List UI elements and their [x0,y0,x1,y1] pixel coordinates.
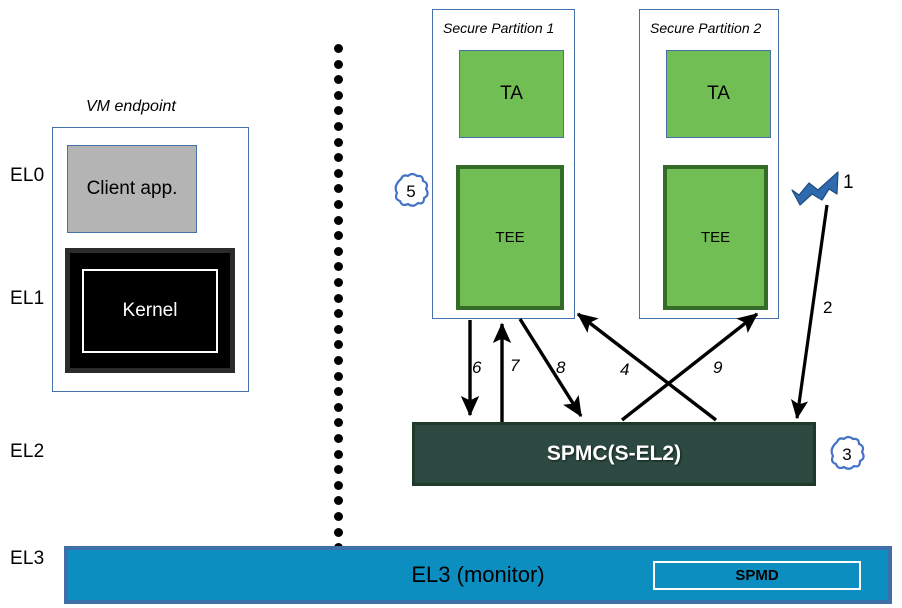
secure-partition-1-title: Secure Partition 1 [443,20,554,36]
divider-dot [334,60,343,69]
divider-dot [334,75,343,84]
callout-5-number: 5 [406,182,415,202]
arrow-label-8: 8 [556,358,565,378]
secure-partition-1-ta: TA [459,50,564,138]
divider-dot [334,418,343,427]
divider-dot [334,528,343,537]
divider-dot [334,450,343,459]
callout-3: 3 [825,433,869,477]
divider-dot [334,91,343,100]
divider-dot [334,169,343,178]
el-label-el1: EL1 [10,288,44,310]
kernel-box: Kernel [82,269,218,353]
arrow-8-line [520,319,581,416]
arrow-9-line [622,314,757,420]
secure-nonsecure-divider [334,44,344,544]
kernel-outer-frame: Kernel [65,248,235,373]
client-app-box: Client app. [67,145,197,233]
secure-partition-1-tee: TEE [456,165,564,310]
spmd-box: SPMD [653,561,861,590]
arrow-label-4: 4 [620,360,629,380]
kernel-inner-frame: Kernel [70,253,230,368]
secure-partition-2-ta: TA [666,50,771,138]
diagram-canvas: EL0 EL1 EL2 EL3 VM endpoint Client app. … [0,0,902,608]
divider-dot [334,231,343,240]
divider-dot [334,496,343,505]
secure-partition-2-tee: TEE [663,165,768,310]
divider-dot [334,122,343,131]
divider-dot [334,309,343,318]
divider-dot [334,340,343,349]
divider-dot [334,372,343,381]
divider-dot [334,512,343,521]
callout-5: 5 [389,170,433,214]
divider-dot [334,294,343,303]
divider-dot [334,184,343,193]
divider-dot [334,200,343,209]
secure-partition-2-title: Secure Partition 2 [650,20,761,36]
divider-dot [334,434,343,443]
arrow-label-2: 2 [823,298,832,318]
divider-dot [334,138,343,147]
arrow-label-9: 9 [713,358,722,378]
divider-dot [334,465,343,474]
divider-dot [334,153,343,162]
arrow-4-line [578,314,716,420]
divider-dot [334,247,343,256]
divider-dot [334,44,343,53]
callout-3-number: 3 [842,445,851,465]
divider-dot [334,387,343,396]
el-label-el0: EL0 [10,165,44,187]
divider-dot [334,278,343,287]
divider-dot [334,106,343,115]
divider-dot [334,262,343,271]
divider-dot [334,481,343,490]
el-label-el2: EL2 [10,441,44,463]
lightning-bolt-icon [792,172,838,205]
el-label-el3: EL3 [10,548,44,570]
divider-dot [334,216,343,225]
arrow-label-7: 7 [510,356,519,376]
vm-endpoint-title: VM endpoint [86,98,176,116]
bolt-label-1: 1 [843,172,854,194]
divider-dot [334,325,343,334]
el3-monitor-label: EL3 (monitor) [411,562,544,588]
arrow-label-6: 6 [472,358,481,378]
divider-dot [334,356,343,365]
divider-dot [334,403,343,412]
spmc-box: SPMC(S-EL2) [412,422,816,486]
